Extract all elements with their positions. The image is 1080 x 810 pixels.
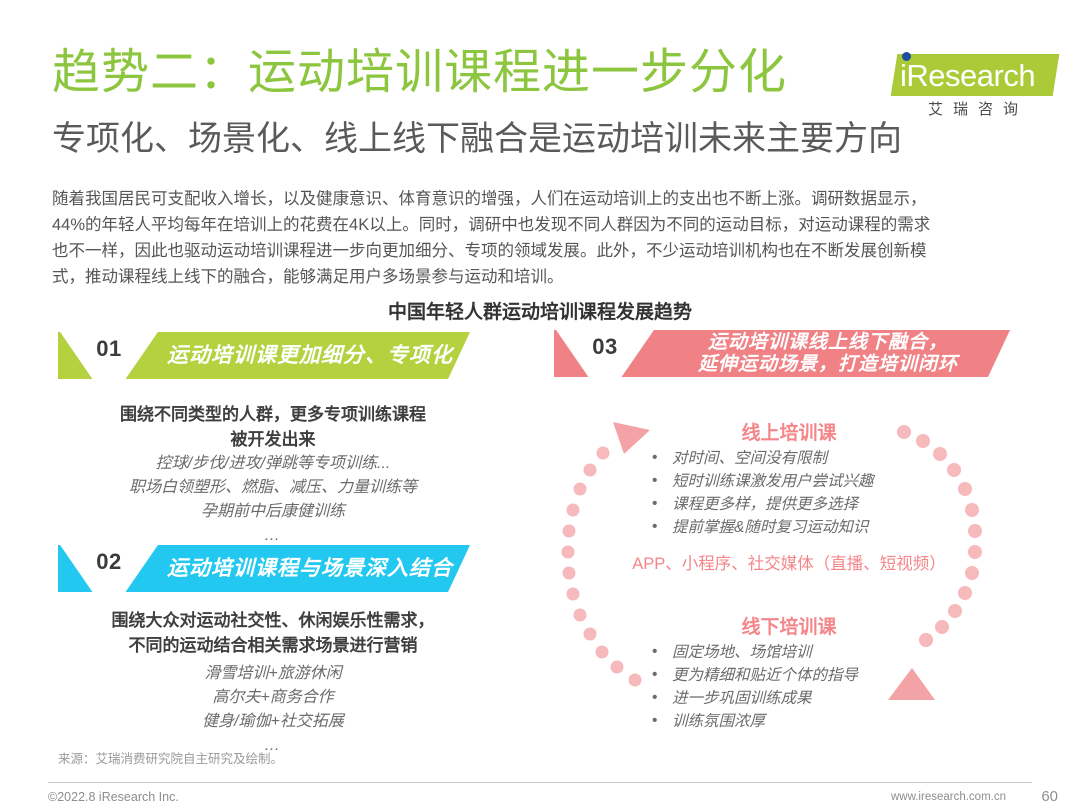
banner-label-03: 运动培训课线上线下融合， 延伸运动场景，打造培训闭环 [658, 330, 998, 377]
offline-bullet-item: 固定场地、场馆培训 [650, 641, 980, 664]
section-banner-01: 运动培训课更加细分、专项化 01 [58, 332, 470, 379]
online-bullet-list: 对时间、空间没有限制 短时训练课激发用户尝试兴趣 课程更多样，提供更多选择 提前… [650, 447, 980, 539]
section-02-heading-line-2: 不同的运动结合相关需求场景进行营销 [58, 633, 488, 658]
banner-label-03-line-1: 运动培训课线上线下融合， [708, 332, 948, 353]
banner-number-01: 01 [58, 336, 160, 362]
online-bullet-item: 课程更多样，提供更多选择 [650, 493, 980, 516]
banner-number-03: 03 [554, 334, 656, 360]
section-01-item: 控球/步伐/进攻/弹跳等专项训练... [58, 452, 488, 476]
banner-label-01: 运动培训课更加细分、专项化 [162, 332, 458, 379]
paragraph-line-2: 44%的年轻人平均每年在培训上的花费在4K以上。同时，调研中也发现不同人群因为不… [52, 212, 1030, 238]
footer-divider [48, 782, 1032, 783]
online-bullet-item: 提前掌握&随时复习运动知识 [650, 516, 980, 539]
section-banner-02: 运动培训课程与场景深入结合 02 [58, 545, 470, 592]
section-02-body: 滑雪培训+旅游休闲 高尔夫+商务合作 健身/瑜伽+社交拓展 … [58, 662, 488, 758]
section-02-item: 滑雪培训+旅游休闲 [58, 662, 488, 686]
section-01-heading: 围绕不同类型的人群，更多专项训练课程 被开发出来 [58, 402, 488, 452]
page-subtitle: 专项化、场景化、线上线下融合是运动培训未来主要方向 [52, 120, 902, 159]
offline-bullet-item: 进一步巩固训练成果 [650, 687, 980, 710]
intro-paragraph: 随着我国居民可支配收入增长，以及健康意识、体育意识的增强，人们在运动培训上的支出… [52, 186, 1030, 290]
chart-title: 中国年轻人群运动培训课程发展趋势 [0, 297, 1080, 324]
section-01-body: 控球/步伐/进攻/弹跳等专项训练... 职场白领塑形、燃脂、减压、力量训练等 孕… [58, 452, 488, 548]
footer-url: www.iresearch.com.cn [891, 791, 1006, 803]
banner-label-02: 运动培训课程与场景深入结合 [162, 545, 458, 592]
section-01-heading-line-1: 围绕不同类型的人群，更多专项训练课程 [58, 402, 488, 427]
channels-line: APP、小程序、社交媒体（直播、短视频） [554, 550, 1024, 574]
paragraph-line-1: 随着我国居民可支配收入增长，以及健康意识、体育意识的增强，人们在运动培训上的支出… [52, 186, 1030, 212]
slide-root: 趋势二：运动培训课程进一步分化 专项化、场景化、线上线下融合是运动培训未来主要方… [0, 0, 1080, 810]
section-02-item: 健身/瑜伽+社交拓展 [58, 710, 488, 734]
section-02-heading: 围绕大众对运动社交性、休闲娱乐性需求， 不同的运动结合相关需求场景进行营销 [58, 608, 488, 658]
banner-label-03-line-2: 延伸运动场景，打造培训闭环 [698, 354, 958, 375]
section-banner-03: 运动培训课线上线下融合， 延伸运动场景，打造培训闭环 03 [554, 330, 1010, 377]
online-bullet-item: 对时间、空间没有限制 [650, 447, 980, 470]
logo-brand-text: iResearch [900, 56, 1062, 96]
footer-copyright: ©2022.8 iResearch Inc. [48, 790, 179, 804]
iresearch-logo: iResearch 艾瑞咨询 [880, 50, 1058, 126]
offline-section-title: 线下培训课 [554, 612, 1024, 639]
section-01-item: 孕期前中后康健训练 [58, 500, 488, 524]
section-02-heading-line-1: 围绕大众对运动社交性、休闲娱乐性需求， [58, 608, 488, 633]
banner-number-02: 02 [58, 549, 160, 575]
online-section-title: 线上培训课 [554, 418, 1024, 445]
paragraph-line-4: 式，推动课程线上线下的融合，能够满足用户多场景参与运动和培训。 [52, 264, 1030, 290]
offline-bullet-list: 固定场地、场馆培训 更为精细和贴近个体的指导 进一步巩固训练成果 训练氛围浓厚 [650, 641, 980, 733]
logo-brand-cn: 艾瑞咨询 [898, 98, 1058, 119]
paragraph-line-3: 也不一样，因此也驱动运动培训课程进一步向更加细分、专项的领域发展。此外，不少运动… [52, 238, 1030, 264]
page-title: 趋势二：运动培训课程进一步分化 [52, 48, 787, 98]
source-note: 来源：艾瑞消费研究院自主研究及绘制。 [58, 748, 283, 767]
section-01-heading-line-2: 被开发出来 [58, 427, 488, 452]
footer-page-number: 60 [1041, 788, 1058, 805]
online-offline-circle-diagram: 线上培训课 对时间、空间没有限制 短时训练课激发用户尝试兴趣 课程更多样，提供更… [554, 400, 1024, 770]
offline-bullet-item: 更为精细和贴近个体的指导 [650, 664, 980, 687]
offline-bullet-item: 训练氛围浓厚 [650, 710, 980, 733]
section-01-item: 职场白领塑形、燃脂、减压、力量训练等 [58, 476, 488, 500]
section-02-item: 高尔夫+商务合作 [58, 686, 488, 710]
online-bullet-item: 短时训练课激发用户尝试兴趣 [650, 470, 980, 493]
